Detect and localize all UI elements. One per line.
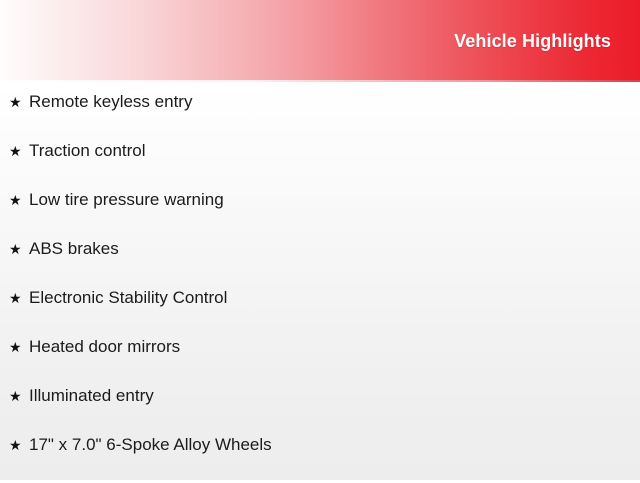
highlight-label: Illuminated entry <box>29 385 154 407</box>
list-item: ★ Low tire pressure warning <box>0 189 640 238</box>
highlight-label: 17" x 7.0" 6-Spoke Alloy Wheels <box>29 434 272 456</box>
page-title: Vehicle Highlights <box>454 30 611 52</box>
star-icon: ★ <box>9 189 29 211</box>
list-item: ★ Electronic Stability Control <box>0 287 640 336</box>
star-icon: ★ <box>9 434 29 456</box>
star-icon: ★ <box>9 91 29 113</box>
vehicle-highlights-list: ★ Remote keyless entry ★ Traction contro… <box>0 91 640 483</box>
star-icon: ★ <box>9 287 29 309</box>
list-item: ★ Illuminated entry <box>0 385 640 434</box>
highlight-label: Low tire pressure warning <box>29 189 224 211</box>
header-divider <box>0 80 640 82</box>
star-icon: ★ <box>9 140 29 162</box>
vehicle-highlights-panel: Vehicle Highlights ★ Remote keyless entr… <box>0 0 640 480</box>
list-item: ★ ABS brakes <box>0 238 640 287</box>
highlight-label: Heated door mirrors <box>29 336 180 358</box>
highlight-label: ABS brakes <box>29 238 119 260</box>
list-item: ★ Traction control <box>0 140 640 189</box>
star-icon: ★ <box>9 336 29 358</box>
star-icon: ★ <box>9 385 29 407</box>
list-item: ★ 17" x 7.0" 6-Spoke Alloy Wheels <box>0 434 640 483</box>
star-icon: ★ <box>9 238 29 260</box>
highlight-label: Electronic Stability Control <box>29 287 227 309</box>
highlight-label: Traction control <box>29 140 146 162</box>
highlight-label: Remote keyless entry <box>29 91 192 113</box>
list-item: ★ Heated door mirrors <box>0 336 640 385</box>
list-item: ★ Remote keyless entry <box>0 91 640 140</box>
